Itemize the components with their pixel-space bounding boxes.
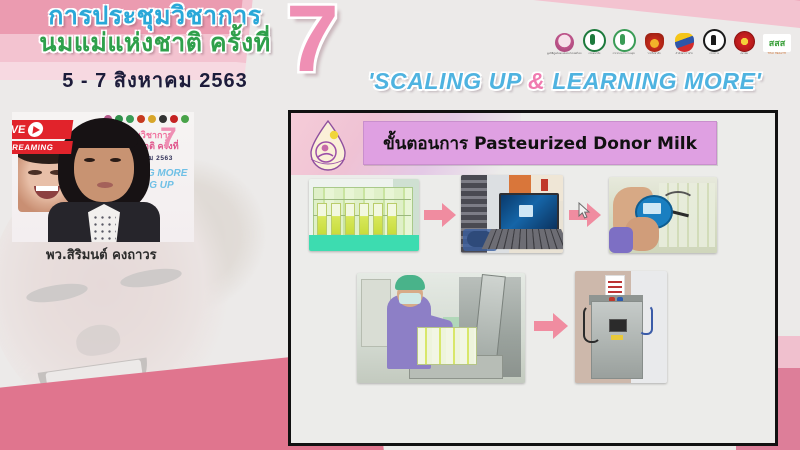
tagline-part-1: 'SCALING UP — [368, 68, 528, 94]
slide-header-banner: ขั้นตอนการ Pasteurized Donor Milk — [363, 121, 717, 165]
live-badge-sub-label: STREAMING — [12, 141, 73, 154]
conference-title-line1: การประชุมวิชาการ — [20, 2, 290, 30]
live-streaming-badge: LIVE STREAMING — [12, 120, 72, 154]
conference-title-block: การประชุมวิชาการ นมแม่แห่งชาติ ครั้งที่ … — [20, 2, 290, 96]
speaker-lips — [97, 182, 113, 188]
photo-milk-bottle-racks — [309, 179, 419, 251]
speaker-blouse-pattern — [92, 214, 116, 242]
red-seal-logo: สมาคม — [732, 26, 756, 56]
conference-title-line2: นมแม่แห่งชาติ ครั้งที่ — [20, 29, 290, 57]
thai-human-milk-bank-droplet-logo — [305, 119, 351, 173]
conference-tagline: 'SCALING UP & LEARNING MORE' — [368, 68, 762, 95]
ministry-seal-logo: กระทรวง — [702, 26, 726, 56]
photo-freezer-storage-unit — [575, 271, 667, 383]
speaker-bangs — [70, 126, 138, 148]
thai-breastfeeding-foundation-logo: มูลนิธิศูนย์นมแม่แห่งประเทศไทย — [552, 26, 576, 56]
presentation-screen: การประชุมวิชาการ นมแม่แห่งชาติ ครั้งที่ … — [0, 0, 800, 450]
poster-edition-number: 7 — [160, 124, 177, 154]
arrow-right-icon — [424, 203, 456, 227]
photo-nurse-loading-pasteurizer — [357, 273, 525, 383]
tagline-ampersand: & — [528, 68, 545, 94]
tagline-part-2: LEARNING MORE' — [545, 68, 761, 94]
photo-laptop-monitoring — [461, 175, 563, 253]
department-of-health-logo: กระทรวงสาธารณสุข — [612, 26, 636, 56]
sponsor-logo-row: มูลนิธิศูนย์นมแม่แห่งประเทศไทย กรมอนามัย… — [552, 26, 792, 56]
royal-emblem-logo: สำนักพระราชวัง — [672, 26, 696, 56]
speaker-eye-right — [110, 158, 121, 162]
speaker-name-caption: พว.สิริมนต์ คงถาวร — [46, 244, 157, 265]
arrow-right-icon — [534, 313, 568, 339]
live-video-thumbnail[interactable]: การประชุมวิชาการ นมแม่แห่งชาติ ครั้งที่ … — [12, 112, 194, 242]
presentation-slide: ขั้นตอนการ Pasteurized Donor Milk — [288, 110, 778, 446]
thaihealth-sss-logo: สสสTHAI HEALTH — [762, 26, 792, 56]
live-badge-main-row: LIVE — [12, 120, 73, 139]
royal-college-logo: ราชวิทยาลัย — [642, 26, 666, 56]
ministry-of-public-health-logo: กรมอนามัย — [582, 26, 606, 56]
live-badge-label: LIVE — [12, 124, 26, 136]
conference-date: 5 - 7 สิงหาคม 2563 — [20, 64, 290, 96]
speaker-eye-left — [84, 158, 95, 162]
mouse-cursor-icon — [578, 202, 591, 225]
play-icon — [27, 122, 44, 137]
photo-handheld-thermometer — [609, 177, 717, 253]
conference-edition-number: 7 — [286, 0, 339, 87]
slide-header-title: ขั้นตอนการ Pasteurized Donor Milk — [383, 130, 697, 157]
